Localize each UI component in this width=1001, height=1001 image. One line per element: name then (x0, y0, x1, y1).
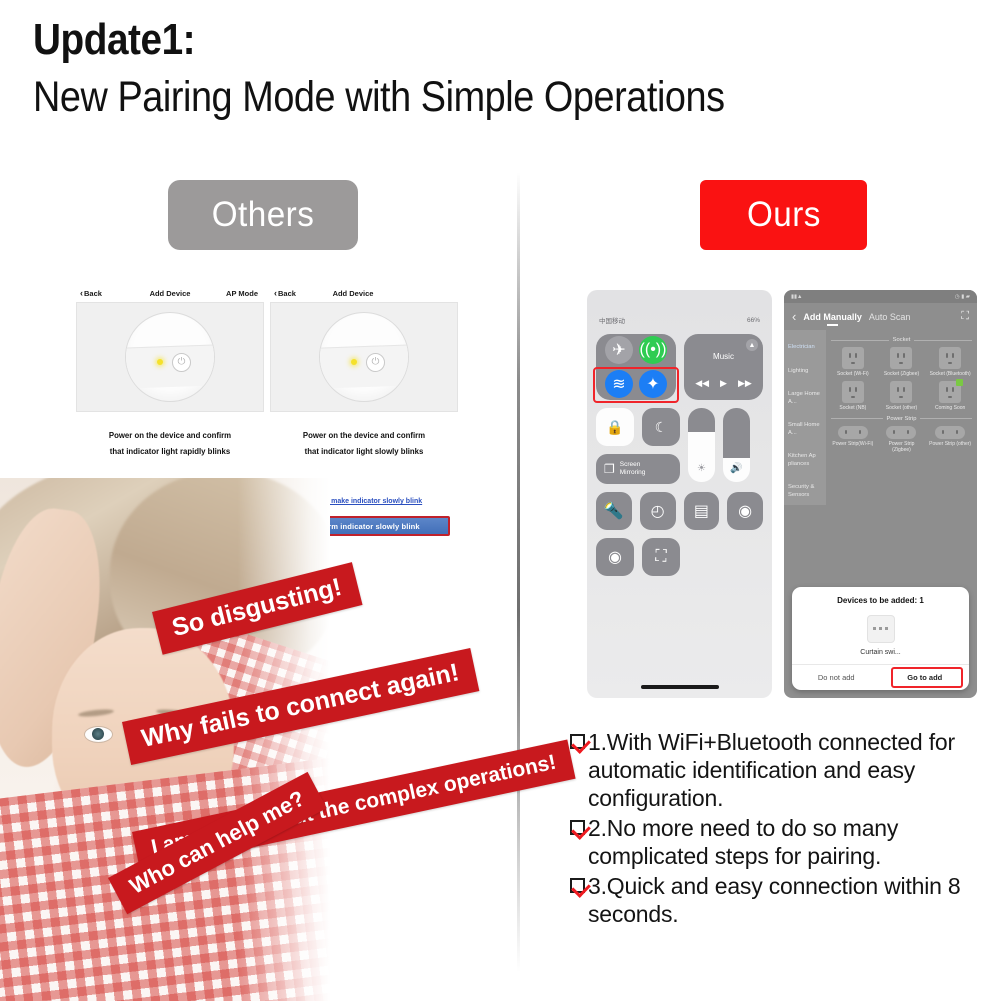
section-title: Power Strip (887, 416, 917, 422)
feature-text: 1.With WiFi+Bluetooth connected for auto… (588, 728, 995, 812)
wifi-bluetooth-highlight (593, 367, 679, 403)
power-strip-icon (935, 426, 965, 439)
play-icon[interactable]: ▶ (720, 378, 727, 389)
device-label: Socket (Wi-Fi) (831, 371, 875, 377)
badge-others: Others (168, 180, 358, 250)
caption: Power on the device and confirm that ind… (76, 428, 264, 461)
timer-icon[interactable]: ◴ (640, 492, 676, 530)
phone-screenshots: 中国移动 66% ✈ ((•)) ≋ ✦ ▲ Music (587, 290, 977, 698)
device-illustration: ⏻ (270, 302, 458, 412)
badge-ours-label: Ours (747, 197, 821, 232)
power-strip-icon (838, 426, 868, 439)
device-label: Power Strip(Wi-Fi) (831, 441, 875, 447)
app-navbar: ‹ Back Add Device AP Mode (76, 284, 264, 302)
airplay-icon[interactable]: ▲ (746, 339, 758, 351)
caption-line-1: Power on the device and confirm (76, 428, 264, 444)
category-sidebar: Electrician Lighting Large Home A... Sma… (784, 330, 826, 505)
scan-icon[interactable]: ⛶ (961, 310, 969, 323)
music-label: Music (684, 352, 763, 361)
screen-mirroring-icon: ❐ (604, 462, 615, 477)
airplane-mode-icon[interactable]: ✈ (605, 336, 633, 364)
socket-icon (842, 381, 864, 403)
device-label: Power Strip (Zigbee) (880, 441, 924, 454)
screen-record-icon[interactable]: ◉ (596, 538, 634, 576)
device-item[interactable]: Socket (Wi-Fi) (831, 347, 875, 377)
device-label: Socket (Zigbee) (880, 371, 924, 377)
device-grid: Socket Socket (Wi-Fi) Socket (Zigbee) (826, 330, 977, 505)
sidebar-item-large-home[interactable]: Large Home A... (784, 383, 826, 414)
device-name: Curtain swi... (860, 649, 900, 656)
indicator-led-icon (157, 359, 163, 365)
music-widget: ▲ Music ◀◀ ▶ ▶▶ (684, 334, 763, 400)
dialog-actions: Do not add Go to add (792, 664, 969, 690)
cellular-data-icon[interactable]: ((•)) (639, 336, 667, 364)
brightness-icon: ☀ (688, 463, 715, 474)
badge-others-label: Others (212, 197, 315, 232)
checkbox-checked-icon (570, 734, 585, 749)
checkbox-checked-icon (570, 820, 585, 835)
device-circle: ⏻ (125, 312, 215, 402)
phone-add-device: ▮▮▲◷ ▮ ▰ ‹ Add Manually Auto Scan ⛶ Elec… (784, 290, 977, 698)
mirror-label-2: Mirroring (620, 469, 646, 476)
vertical-divider (517, 172, 520, 972)
power-strip-icon (886, 426, 916, 439)
socket-icon (939, 347, 961, 369)
app-navbar: ‹ Back Add Device (270, 284, 458, 302)
page-title: Update1: New Pairing Mode with Simple Op… (33, 18, 993, 120)
feature-text: 2.No more need to do so many complicated… (588, 814, 995, 870)
socket-icon (842, 347, 864, 369)
feature-text: 3.Quick and easy connection within 8 sec… (588, 872, 995, 928)
device-item-coming-soon[interactable]: Coming Soon (928, 381, 972, 411)
go-to-add-highlight (891, 667, 963, 688)
device-label: Socket (Bluetooth) (928, 371, 972, 377)
device-label: Power Strip (other) (928, 441, 972, 447)
device-row: Power Strip(Wi-Fi) Power Strip (Zigbee) … (831, 426, 972, 454)
socket-icon (890, 381, 912, 403)
cc-row-1: ✈ ((•)) ≋ ✦ ▲ Music ◀◀ ▶ ▶▶ (596, 334, 763, 400)
socket-icon (939, 381, 961, 403)
do-not-add-button[interactable]: Do not add (792, 665, 881, 690)
sidebar-item-security[interactable]: Security & Sensors (784, 476, 826, 507)
heading-line-2: New Pairing Mode with Simple Operations (33, 75, 878, 120)
device-item[interactable]: Power Strip (other) (928, 426, 972, 454)
page-root: Update1: New Pairing Mode with Simple Op… (0, 0, 1001, 1001)
calculator-icon[interactable]: ▤ (684, 492, 720, 530)
new-badge-icon (956, 379, 963, 386)
app-navbar: ‹ Add Manually Auto Scan ⛶ (784, 303, 977, 330)
mirror-label-1: Screen (620, 461, 641, 468)
device-item[interactable]: Socket (Bluetooth) (928, 347, 972, 377)
sidebar-item-kitchen[interactable]: Kitchen Ap pliances (784, 445, 826, 476)
screen-mirroring-button[interactable]: ❐ Screen Mirroring (596, 454, 680, 484)
feature-list: 1.With WiFi+Bluetooth connected for auto… (570, 728, 995, 930)
tab-auto-scan[interactable]: Auto Scan (869, 312, 911, 322)
feature-item: 2.No more need to do so many complicated… (570, 814, 995, 870)
indicator-led-icon (351, 359, 357, 365)
device-row: Socket (Wi-Fi) Socket (Zigbee) Socket (B… (831, 347, 972, 377)
control-center-grid: ✈ ((•)) ≋ ✦ ▲ Music ◀◀ ▶ ▶▶ (596, 334, 763, 584)
device-item[interactable]: Power Strip(Wi-Fi) (831, 426, 875, 454)
rotation-lock-icon[interactable]: 🔒 (596, 408, 634, 446)
cc-row-4: ◉ ⛶ (596, 538, 763, 576)
device-item[interactable]: Socket (NB) (831, 381, 875, 411)
checkbox-checked-icon (570, 878, 585, 893)
power-button-icon: ⏻ (366, 353, 385, 372)
volume-slider[interactable]: 🔊 (723, 408, 750, 482)
camera-icon[interactable]: ◉ (727, 492, 763, 530)
flashlight-icon[interactable]: 🔦 (596, 492, 632, 530)
sidebar-item-lighting[interactable]: Lighting (784, 360, 826, 384)
qr-scan-icon[interactable]: ⛶ (642, 538, 680, 576)
socket-icon (890, 347, 912, 369)
previous-icon[interactable]: ◀◀ (695, 378, 709, 389)
music-controls: ◀◀ ▶ ▶▶ (684, 378, 763, 389)
brightness-slider[interactable]: ☀ (688, 408, 715, 482)
device-item[interactable]: Power Strip (Zigbee) (880, 426, 924, 454)
cc-row-3: 🔦 ◴ ▤ ◉ (596, 492, 763, 530)
curtain-switch-icon (867, 615, 895, 643)
badge-ours: Ours (700, 180, 867, 250)
device-label: Socket (other) (880, 405, 924, 411)
device-item[interactable]: Socket (Zigbee) (880, 347, 924, 377)
sidebar-item-electrician[interactable]: Electrician (784, 336, 826, 360)
device-illustration: ⏻ (76, 302, 264, 412)
dialog-title: Devices to be added: 1 (792, 587, 969, 605)
do-not-disturb-icon[interactable]: ☾ (642, 408, 680, 446)
feature-item: 3.Quick and easy connection within 8 sec… (570, 872, 995, 928)
connectivity-group: ✈ ((•)) ≋ ✦ (596, 334, 676, 400)
next-icon[interactable]: ▶▶ (738, 378, 752, 389)
status-battery: 66% (747, 317, 760, 324)
device-circle: ⏻ (319, 312, 409, 402)
volume-icon: 🔊 (723, 463, 750, 474)
phone-control-center: 中国移动 66% ✈ ((•)) ≋ ✦ ▲ Music (587, 290, 772, 698)
app-title: Add Device (248, 289, 458, 298)
feature-item: 1.With WiFi+Bluetooth connected for auto… (570, 728, 995, 812)
power-button-icon: ⏻ (172, 353, 191, 372)
device-row: Socket (NB) Socket (other) Coming Soon (831, 381, 972, 411)
status-carrier: 中国移动 (599, 315, 625, 325)
found-device: Curtain swi... (792, 605, 969, 664)
cc-row-2: 🔒 ☾ ❐ Screen Mirroring (596, 408, 763, 484)
sidebar-item-small-home[interactable]: Small Home A... (784, 414, 826, 445)
back-icon[interactable]: ‹ (792, 309, 796, 324)
caption: Power on the device and confirm that ind… (270, 428, 458, 461)
heading-line-1: Update1: (33, 18, 878, 63)
section-header-socket: Socket (831, 337, 972, 343)
device-label: Socket (NB) (831, 405, 875, 411)
device-item[interactable]: Socket (other) (880, 381, 924, 411)
caption-line-2: that indicator light slowly blinks (270, 444, 458, 460)
tab-add-manually[interactable]: Add Manually (803, 312, 862, 322)
device-label: Coming Soon (928, 405, 972, 411)
section-header-power-strip: Power Strip (831, 416, 972, 422)
status-bar: 中国移动 66% (587, 314, 772, 326)
caption-line-1: Power on the device and confirm (270, 428, 458, 444)
category-browser: Electrician Lighting Large Home A... Sma… (784, 330, 977, 505)
devices-found-dialog: Devices to be added: 1 Curtain swi... Do… (792, 587, 969, 690)
caption-line-2: that indicator light rapidly blinks (76, 444, 264, 460)
section-title: Socket (893, 337, 911, 343)
home-indicator (641, 685, 719, 689)
status-bar: ▮▮▲◷ ▮ ▰ (784, 290, 977, 303)
